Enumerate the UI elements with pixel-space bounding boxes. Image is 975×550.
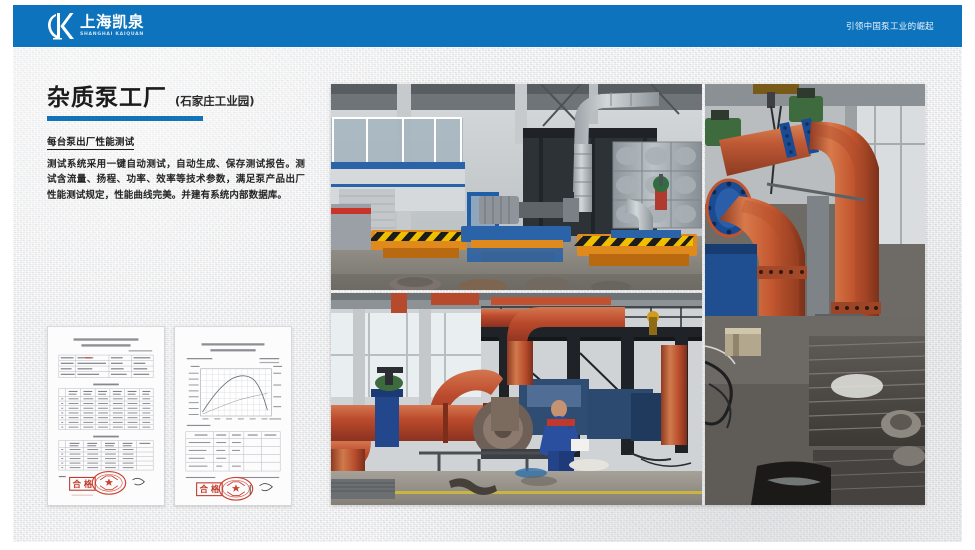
company-logo: 上海凯泉 SHANGHAI KAIQUAN bbox=[45, 12, 144, 41]
kaiquan-k-monogram-icon bbox=[45, 12, 75, 41]
document-thumbnail-performance-curve[interactable]: 合 格 bbox=[174, 326, 292, 506]
logo-english-name: SHANGHAI KAIQUAN bbox=[80, 33, 144, 38]
factory-test-bay-graphic bbox=[331, 84, 702, 290]
large-bore-pipe-elbows-photo[interactable] bbox=[705, 84, 925, 505]
page-title-location: (石家庄工业园) bbox=[175, 93, 255, 109]
photo-collage bbox=[331, 84, 925, 505]
presentation-slide: 上海凯泉 SHANGHAI KAIQUAN 引领中国泵工业的崛起 杂质泵工厂 (… bbox=[0, 0, 975, 550]
page-title-block: 杂质泵工厂 (石家庄工业园) bbox=[47, 86, 309, 121]
section-heading: 每台泵出厂性能测试 bbox=[47, 134, 134, 150]
pump-piping-worker-graphic bbox=[331, 293, 702, 505]
pipe-elbows-graphic bbox=[705, 84, 925, 505]
factory-test-bay-photo[interactable] bbox=[331, 84, 702, 290]
title-row: 杂质泵工厂 (石家庄工业园) bbox=[47, 86, 309, 110]
section-body-text: 测试系统采用一键自动测试，自动生成、保存测试报告。测试含流量、扬程、功率、效率等… bbox=[47, 157, 305, 203]
title-underline-rule bbox=[47, 116, 203, 121]
header-slogan: 引领中国泵工业的崛起 bbox=[846, 5, 934, 47]
logo-text: 上海凯泉 SHANGHAI KAIQUAN bbox=[80, 15, 144, 37]
pump-piping-worker-photo[interactable] bbox=[331, 293, 702, 505]
performance-curve-page-graphic: 合 格 bbox=[175, 327, 291, 505]
slide-header-bar: 上海凯泉 SHANGHAI KAIQUAN 引领中国泵工业的崛起 bbox=[13, 5, 962, 47]
page-title: 杂质泵工厂 bbox=[47, 86, 167, 110]
document-thumbnail-group: 合 格 bbox=[47, 326, 292, 506]
document-thumbnail-test-report[interactable]: 合 格 bbox=[47, 326, 165, 506]
test-report-page-graphic: 合 格 bbox=[48, 327, 164, 505]
svg-text:合 格: 合 格 bbox=[72, 479, 93, 489]
description-block: 每台泵出厂性能测试 测试系统采用一键自动测试，自动生成、保存测试报告。测试含流量… bbox=[47, 130, 305, 203]
svg-text:合 格: 合 格 bbox=[199, 484, 220, 494]
logo-chinese-name: 上海凯泉 bbox=[80, 15, 144, 31]
